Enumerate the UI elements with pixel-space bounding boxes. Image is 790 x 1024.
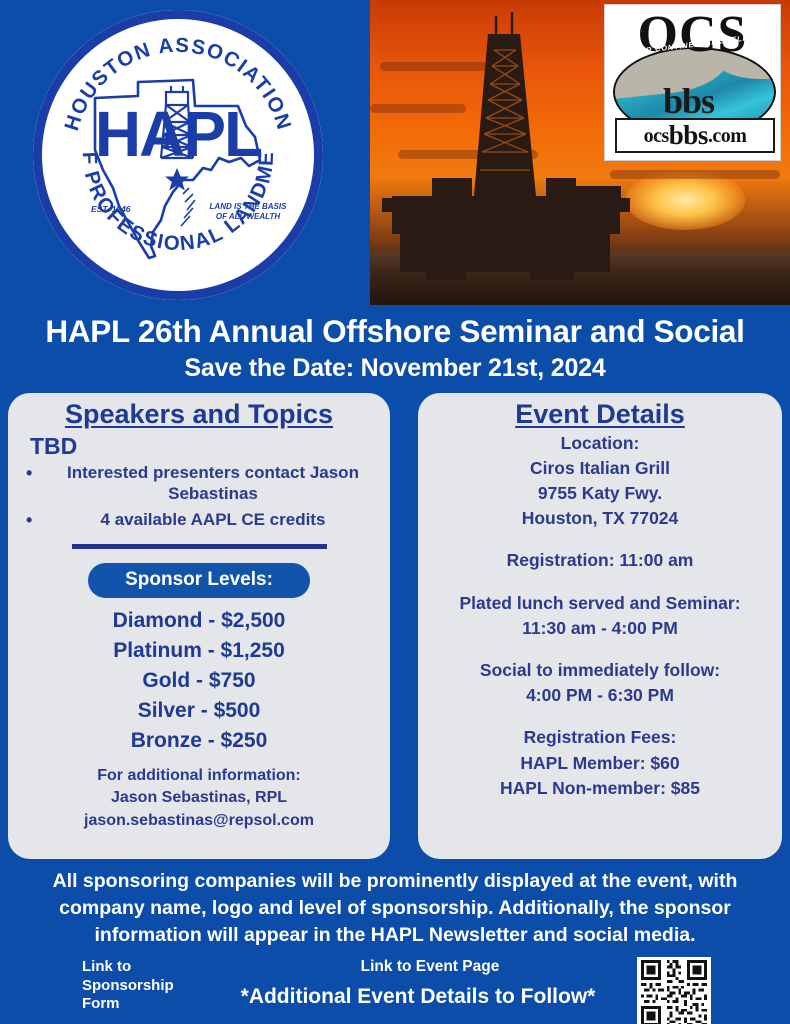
speakers-bullet-list: Interested presenters contact Jason Seba…	[8, 462, 390, 531]
ocs-domain-prefix: ocs	[644, 126, 669, 146]
list-item: Interested presenters contact Jason Seba…	[44, 462, 376, 505]
page-title: HAPL 26th Annual Offshore Seminar and So…	[0, 314, 790, 349]
speakers-panel-heading: Speakers and Topics	[8, 393, 390, 430]
registration-fees-label: Registration Fees:	[418, 725, 782, 750]
additional-information-block: For additional information: Jason Sebast…	[8, 765, 390, 833]
spacer	[418, 531, 782, 548]
ocs-domain-suffix: .com	[708, 126, 747, 146]
sponsorship-note: All sponsoring companies will be promine…	[14, 868, 776, 949]
sponsor-levels-list: Diamond - $2,500 Platinum - $1,250 Gold …	[8, 606, 390, 755]
speakers-tbd-label: TBD	[30, 433, 390, 460]
sponsor-levels-badge: Sponsor Levels:	[88, 563, 310, 598]
hapl-motto: LAND IS THE BASIS OF ALL WEALTH	[193, 202, 303, 222]
event-details-heading: Event Details	[418, 393, 782, 430]
ocs-bbs-text: bbs	[663, 83, 714, 119]
hapl-seal: HOUSTON ASSOCIATION OF PROFESSIONAL LAND…	[33, 10, 323, 300]
link-to-sponsorship-form[interactable]: Link to Sponsorship Form	[82, 958, 212, 1014]
hapl-wordmark: HAPL	[33, 102, 323, 166]
event-street-address: 9755 Katy Fwy.	[418, 481, 782, 506]
social-time: 4:00 PM - 6:30 PM	[418, 683, 782, 708]
additional-details-to-follow: *Additional Event Details to Follow*	[218, 985, 618, 1009]
event-details-lines: Location: Ciros Italian Grill 9755 Katy …	[418, 431, 782, 801]
fee-member: HAPL Member: $60	[418, 751, 782, 776]
list-item: 4 available AAPL CE credits	[44, 509, 376, 530]
title-block: HAPL 26th Annual Offshore Seminar and So…	[0, 314, 790, 383]
event-venue-name: Ciros Italian Grill	[418, 456, 782, 481]
qr-code[interactable]	[637, 957, 711, 1024]
additional-info-label: For additional information:	[8, 765, 390, 788]
contact-name: Jason Sebastinas, RPL	[8, 787, 390, 810]
spacer	[418, 641, 782, 658]
sponsor-level-gold: Gold - $750	[8, 666, 390, 696]
ocs-domain-mid: bbs	[669, 122, 708, 149]
social-label: Social to immediately follow:	[418, 658, 782, 683]
contact-email[interactable]: jason.sebastinas@repsol.com	[8, 810, 390, 833]
lunch-seminar-time: 11:30 am - 4:00 PM	[418, 616, 782, 641]
spacer	[418, 708, 782, 725]
flyer-root: HOUSTON ASSOCIATION OF PROFESSIONAL LAND…	[0, 0, 790, 1024]
event-details-panel: Event Details Location: Ciros Italian Gr…	[418, 393, 782, 859]
qr-code-icon	[637, 957, 711, 1024]
hapl-established-text: EST. 1946	[91, 204, 131, 214]
sponsor-level-bronze: Bronze - $250	[8, 726, 390, 756]
registration-time: Registration: 11:00 am	[418, 548, 782, 573]
hapl-motto-line2: OF ALL WEALTH	[193, 212, 303, 222]
sponsor-level-platinum: Platinum - $1,250	[8, 636, 390, 666]
speakers-and-topics-panel: Speakers and Topics TBD Interested prese…	[8, 393, 390, 859]
spacer	[418, 574, 782, 591]
save-the-date-subtitle: Save the Date: November 21st, 2024	[0, 353, 790, 383]
event-city-state-zip: Houston, TX 77024	[418, 506, 782, 531]
footer: Link to Sponsorship Form Link to Event P…	[0, 952, 790, 1024]
hapl-logo-pane: HOUSTON ASSOCIATION OF PROFESSIONAL LAND…	[0, 0, 370, 307]
sponsor-level-silver: Silver - $500	[8, 696, 390, 726]
ocs-logo: OCS OUTER CONTINENTAL SHELF bbs ocsbbs.c…	[604, 4, 781, 161]
sponsor-level-diamond: Diamond - $2,500	[8, 606, 390, 636]
lunch-seminar-label: Plated lunch served and Seminar:	[418, 591, 782, 616]
ocs-domain-banner: ocsbbs.com	[615, 118, 775, 153]
hero-banner: HOUSTON ASSOCIATION OF PROFESSIONAL LAND…	[0, 0, 790, 307]
event-location-label: Location:	[418, 431, 782, 456]
section-divider	[72, 544, 327, 549]
fee-non-member: HAPL Non-member: $85	[418, 776, 782, 801]
hapl-motto-line1: LAND IS THE BASIS	[193, 202, 303, 212]
link-to-event-page[interactable]: Link to Event Page	[230, 958, 630, 976]
